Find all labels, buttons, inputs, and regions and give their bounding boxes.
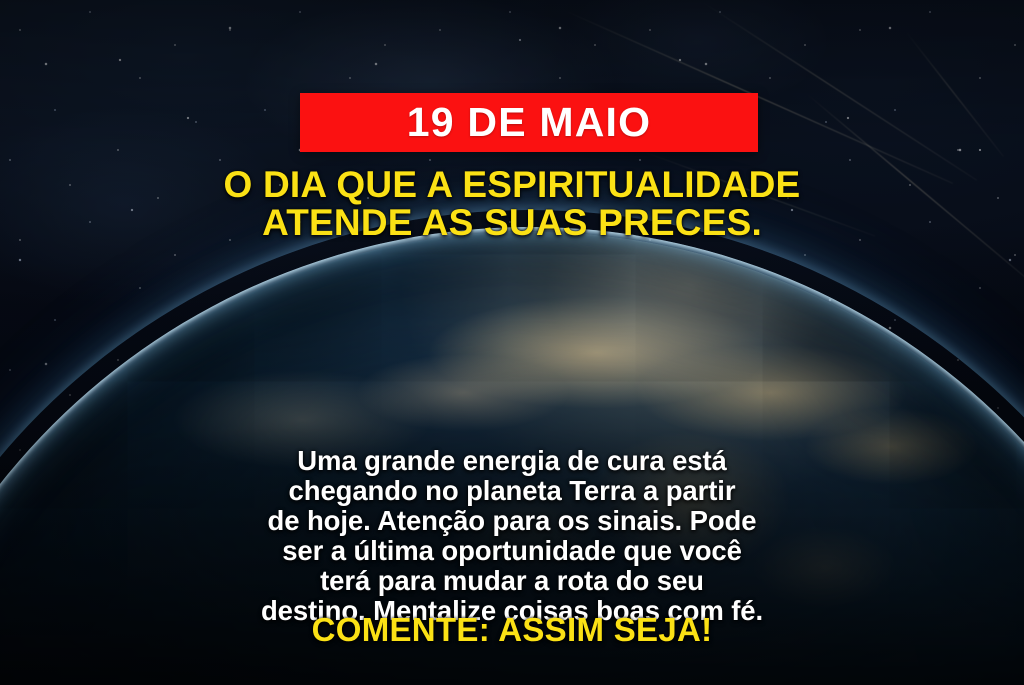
poster-canvas: 19 DE MAIO O DIA QUE A ESPIRITUALIDADE A… bbox=[0, 0, 1024, 685]
body-paragraph: Uma grande energia de cura está chegando… bbox=[0, 446, 1024, 626]
body-line-5: terá para mudar a rota do seu bbox=[0, 566, 1024, 596]
headline: O DIA QUE A ESPIRITUALIDADE ATENDE AS SU… bbox=[0, 166, 1024, 242]
body-line-1: Uma grande energia de cura está bbox=[0, 446, 1024, 476]
headline-line-2: ATENDE AS SUAS PRECES. bbox=[0, 204, 1024, 242]
poster-content: 19 DE MAIO O DIA QUE A ESPIRITUALIDADE A… bbox=[0, 0, 1024, 685]
comment-call-to-action: COMENTE: ASSIM SEJA! bbox=[0, 612, 1024, 648]
body-line-2: chegando no planeta Terra a partir bbox=[0, 476, 1024, 506]
body-line-4: ser a última oportunidade que você bbox=[0, 536, 1024, 566]
headline-line-1: O DIA QUE A ESPIRITUALIDADE bbox=[0, 166, 1024, 204]
date-banner: 19 DE MAIO bbox=[300, 93, 758, 152]
body-line-3: de hoje. Atenção para os sinais. Pode bbox=[0, 506, 1024, 536]
date-banner-label: 19 DE MAIO bbox=[407, 102, 651, 143]
